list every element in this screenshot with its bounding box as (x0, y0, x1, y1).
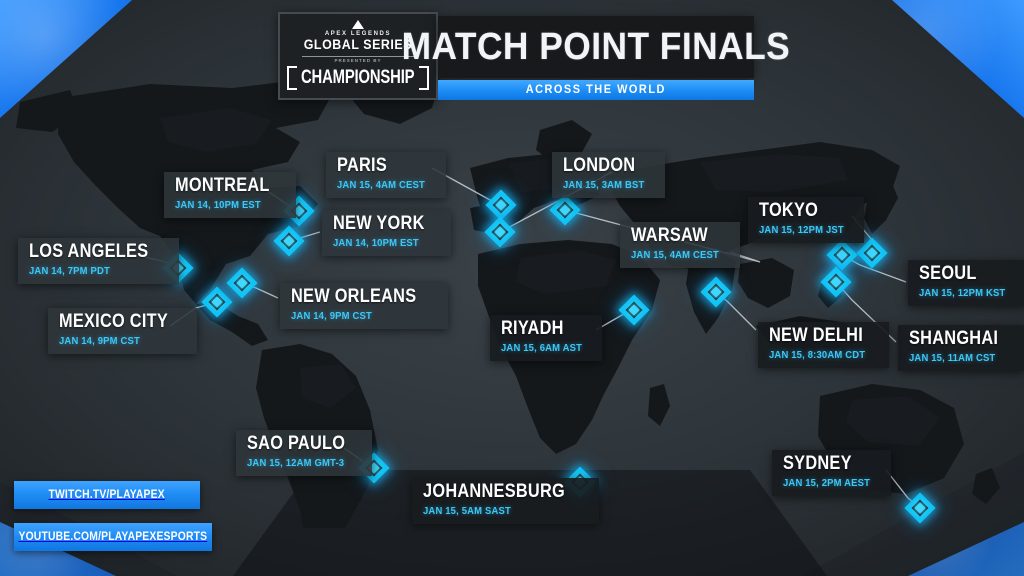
city-label-johannesburg[interactable]: JOHANNESBURGJAN 15, 5AM SAST (412, 478, 599, 524)
city-marker-sydney[interactable] (909, 497, 931, 519)
city-label-warsaw[interactable]: WARSAWJAN 15, 4AM CEST (620, 222, 740, 268)
city-label-new-delhi[interactable]: NEW DELHIJAN 15, 8:30AM CDT (758, 322, 889, 368)
city-name: RIYADH (501, 320, 579, 339)
city-marker-riyadh[interactable] (623, 299, 645, 321)
city-time: JAN 15, 12PM JST (759, 224, 844, 237)
city-marker-paris[interactable] (490, 194, 512, 216)
city-name: JOHANNESBURG (423, 483, 565, 502)
city-name: NEW YORK (333, 215, 425, 234)
city-marker-mexico-city[interactable] (206, 291, 228, 313)
city-marker-london[interactable] (489, 221, 511, 243)
city-name: NEW DELHI (769, 327, 863, 346)
city-name: MONTREAL (175, 177, 270, 196)
city-time: JAN 15, 11AM CST (909, 352, 1002, 365)
city-marker-tokyo[interactable] (861, 242, 883, 264)
city-label-montreal[interactable]: MONTREALJAN 14, 10PM EST (164, 172, 296, 218)
city-time: JAN 15, 12AM GMT-3 (247, 457, 350, 470)
city-label-seoul[interactable]: SEOULJAN 15, 12PM KST (908, 260, 1024, 306)
city-marker-seoul[interactable] (831, 244, 853, 266)
city-name: WARSAW (631, 227, 715, 246)
apex-triangle-icon (352, 20, 364, 29)
city-time: JAN 15, 2PM AEST (783, 477, 870, 490)
city-time: JAN 15, 6AM AST (501, 342, 582, 355)
city-label-tokyo[interactable]: TOKYOJAN 15, 12PM JST (748, 197, 864, 243)
city-name: PARIS (337, 157, 421, 176)
city-name: SHANGHAI (909, 330, 998, 349)
city-name: NEW ORLEANS (291, 288, 416, 307)
city-marker-new-orleans[interactable] (231, 272, 253, 294)
city-label-shanghai[interactable]: SHANGHAIJAN 15, 11AM CST (898, 325, 1024, 371)
apex-logo-mark: APEX LEGENDS GLOBAL SERIES (299, 20, 417, 53)
twitch-link[interactable]: TWITCH.TV/PLAYAPEX (14, 481, 200, 509)
city-time: JAN 15, 8:30AM CDT (769, 349, 867, 362)
subtitle-banner: ACROSS THE WORLD (438, 80, 754, 100)
youtube-link[interactable]: YOUTUBE.COM/PLAYAPEXESPORTS (14, 523, 212, 551)
city-marker-new-york[interactable] (278, 230, 300, 252)
city-label-sydney[interactable]: SYDNEYJAN 15, 2PM AEST (772, 450, 891, 496)
city-marker-shanghai[interactable] (825, 271, 847, 293)
logo-divider (302, 56, 414, 57)
poster-canvas: LOS ANGELESJAN 14, 7PM PDTMEXICO CITYJAN… (0, 0, 1024, 576)
city-label-new-york[interactable]: NEW YORKJAN 14, 10PM EST (322, 210, 451, 256)
title-banner: MATCH POINT FINALS (438, 16, 754, 78)
city-time: JAN 15, 12PM KST (919, 287, 1005, 300)
city-marker-warsaw[interactable] (554, 199, 576, 221)
youtube-link-label: YOUTUBE.COM/PLAYAPEXESPORTS (19, 531, 208, 543)
city-time: JAN 14, 10PM EST (333, 237, 429, 250)
city-name: SEOUL (919, 265, 1002, 284)
city-time: JAN 15, 4AM CEST (631, 249, 719, 262)
city-time: JAN 14, 9PM CST (291, 310, 422, 323)
twitch-link-label: TWITCH.TV/PLAYAPEX (49, 489, 165, 501)
city-time: JAN 15, 3AM BST (563, 179, 644, 192)
city-name: SYDNEY (783, 455, 866, 474)
championship-label: CHAMPIONSHIP (301, 67, 414, 89)
city-marker-new-delhi[interactable] (705, 281, 727, 303)
city-time: JAN 14, 9PM CST (59, 335, 173, 348)
city-label-new-orleans[interactable]: NEW ORLEANSJAN 14, 9PM CST (280, 283, 448, 329)
city-label-riyadh[interactable]: RIYADHJAN 15, 6AM AST (490, 315, 602, 361)
city-label-london[interactable]: LONDONJAN 15, 3AM BST (552, 152, 665, 198)
city-label-paris[interactable]: PARISJAN 15, 4AM CEST (326, 152, 446, 198)
city-label-los-angeles[interactable]: LOS ANGELESJAN 14, 7PM PDT (18, 238, 179, 284)
city-label-mexico-city[interactable]: MEXICO CITYJAN 14, 9PM CST (48, 308, 197, 354)
global-series-label: GLOBAL SERIES (304, 37, 412, 53)
page-title: MATCH POINT FINALS (402, 26, 791, 69)
header: APEX LEGENDS GLOBAL SERIES PRESENTED BY … (0, 0, 1024, 110)
city-time: JAN 15, 5AM SAST (423, 505, 572, 518)
city-name: LOS ANGELES (29, 243, 148, 262)
city-name: SAO PAULO (247, 435, 345, 454)
city-name: LONDON (563, 157, 641, 176)
city-name: MEXICO CITY (59, 313, 168, 332)
city-name: TOKYO (759, 202, 840, 221)
city-time: JAN 14, 7PM PDT (29, 265, 154, 278)
city-label-sao-paulo[interactable]: SAO PAULOJAN 15, 12AM GMT-3 (236, 430, 372, 476)
presented-by-label: PRESENTED BY (334, 58, 381, 63)
city-time: JAN 14, 10PM EST (175, 199, 274, 212)
page-subtitle: ACROSS THE WORLD (526, 84, 666, 96)
city-time: JAN 15, 4AM CEST (337, 179, 425, 192)
